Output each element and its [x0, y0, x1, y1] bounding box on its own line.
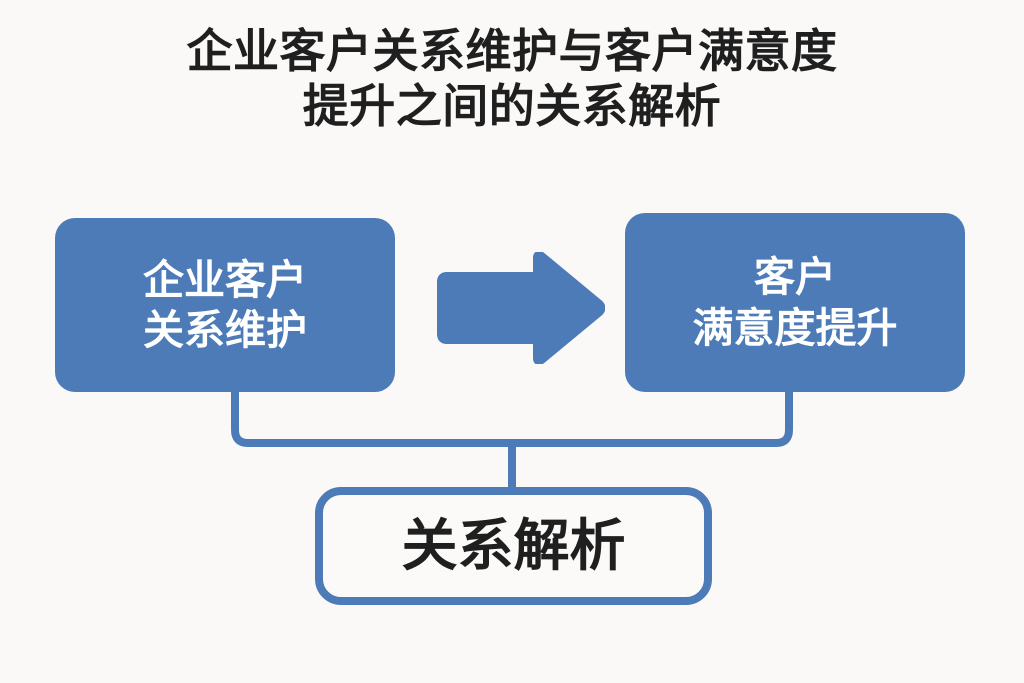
page-title: 企业客户关系维护与客户满意度 提升之间的关系解析 — [0, 24, 1024, 134]
page-title-line-1: 企业客户关系维护与客户满意度 — [0, 24, 1024, 79]
diagram-canvas: 企业客户关系维护与客户满意度 提升之间的关系解析 企业客户 关系维护 客户 满意… — [0, 0, 1024, 683]
connector-path-top-bar — [235, 392, 789, 443]
node-left-line-1: 企业客户 — [143, 255, 307, 305]
node-relationship-analysis[interactable]: 关系解析 — [315, 487, 712, 605]
arrow-right-icon — [430, 252, 605, 364]
node-customer-relationship-maintenance[interactable]: 企业客户 关系维护 — [55, 218, 395, 392]
node-customer-satisfaction-improvement[interactable]: 客户 满意度提升 — [625, 213, 965, 392]
page-title-line-2: 提升之间的关系解析 — [0, 79, 1024, 134]
node-right-line-1: 客户 — [754, 252, 836, 302]
node-right-line-2: 满意度提升 — [693, 303, 898, 353]
node-bottom-line-1: 关系解析 — [402, 512, 626, 580]
node-left-line-2: 关系维护 — [143, 305, 307, 355]
